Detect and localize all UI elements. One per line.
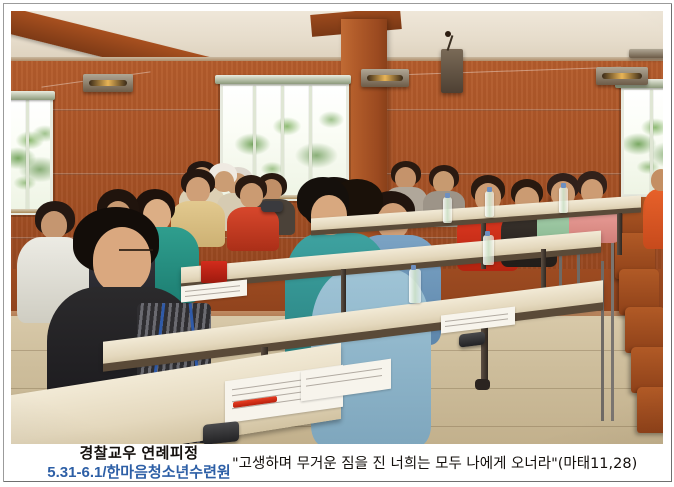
attendee-head [651, 169, 663, 191]
attendee-head [395, 167, 416, 189]
bottle-cap [445, 193, 450, 198]
stacked-chair [637, 387, 663, 433]
paper-line [185, 290, 240, 297]
wall-heater-left [83, 74, 133, 92]
water-bottle [485, 191, 494, 217]
photo-card: 경찰교우 연례피정 5.31-6.1/한마음청소년수련원 "고생하며 무거운 짐… [0, 0, 674, 487]
attendee-head [433, 171, 454, 193]
bottle-cap [485, 231, 490, 236]
speaker-bracket [445, 31, 451, 37]
wall-heater-center [361, 69, 409, 87]
red-book [201, 261, 227, 283]
caption-subtitle: 5.31-6.1/한마음청소년수련원 [24, 463, 254, 483]
water-bottle [483, 235, 494, 265]
water-bottle [559, 187, 568, 213]
heater-lamp [602, 73, 642, 79]
bottle-cap [487, 187, 492, 192]
attendee-head [186, 177, 210, 203]
caption-quote: "고생하며 무거운 짐을 진 너희는 모두 나에게 오너라"(마태11,28) [232, 454, 652, 474]
table-caster [475, 379, 490, 390]
attendee-head [240, 183, 263, 208]
window-foliage [11, 100, 50, 212]
attendee-head [41, 211, 67, 239]
bottle-cap [411, 265, 416, 270]
wall-speaker [441, 49, 463, 93]
wall-rail-right [629, 49, 663, 58]
heater-lamp [89, 80, 127, 86]
attendee-glasses [119, 249, 153, 251]
caption-left: 경찰교우 연례피정 5.31-6.1/한마음청소년수련원 [24, 444, 254, 483]
paper-line [306, 368, 382, 380]
event-photo [11, 11, 663, 444]
water-bottle [409, 269, 421, 303]
paper-line [445, 313, 507, 322]
small-device [261, 201, 283, 212]
window-center-header [215, 75, 351, 84]
bottle-cap [561, 183, 566, 188]
window-left-header [11, 91, 55, 100]
caption-title: 경찰교우 연례피정 [24, 444, 254, 463]
attendee-torso [227, 207, 279, 251]
wall-heater-right [596, 67, 648, 85]
window-left [11, 97, 53, 215]
phone-wallet [203, 421, 239, 444]
attendee-head [93, 227, 151, 293]
table-leg [617, 213, 622, 255]
water-bottle [443, 197, 452, 223]
attendee-head [214, 171, 234, 192]
heater-lamp [367, 75, 403, 81]
chair-leg [611, 231, 614, 421]
window-mullion [26, 100, 29, 212]
attendee-torso [643, 189, 663, 249]
